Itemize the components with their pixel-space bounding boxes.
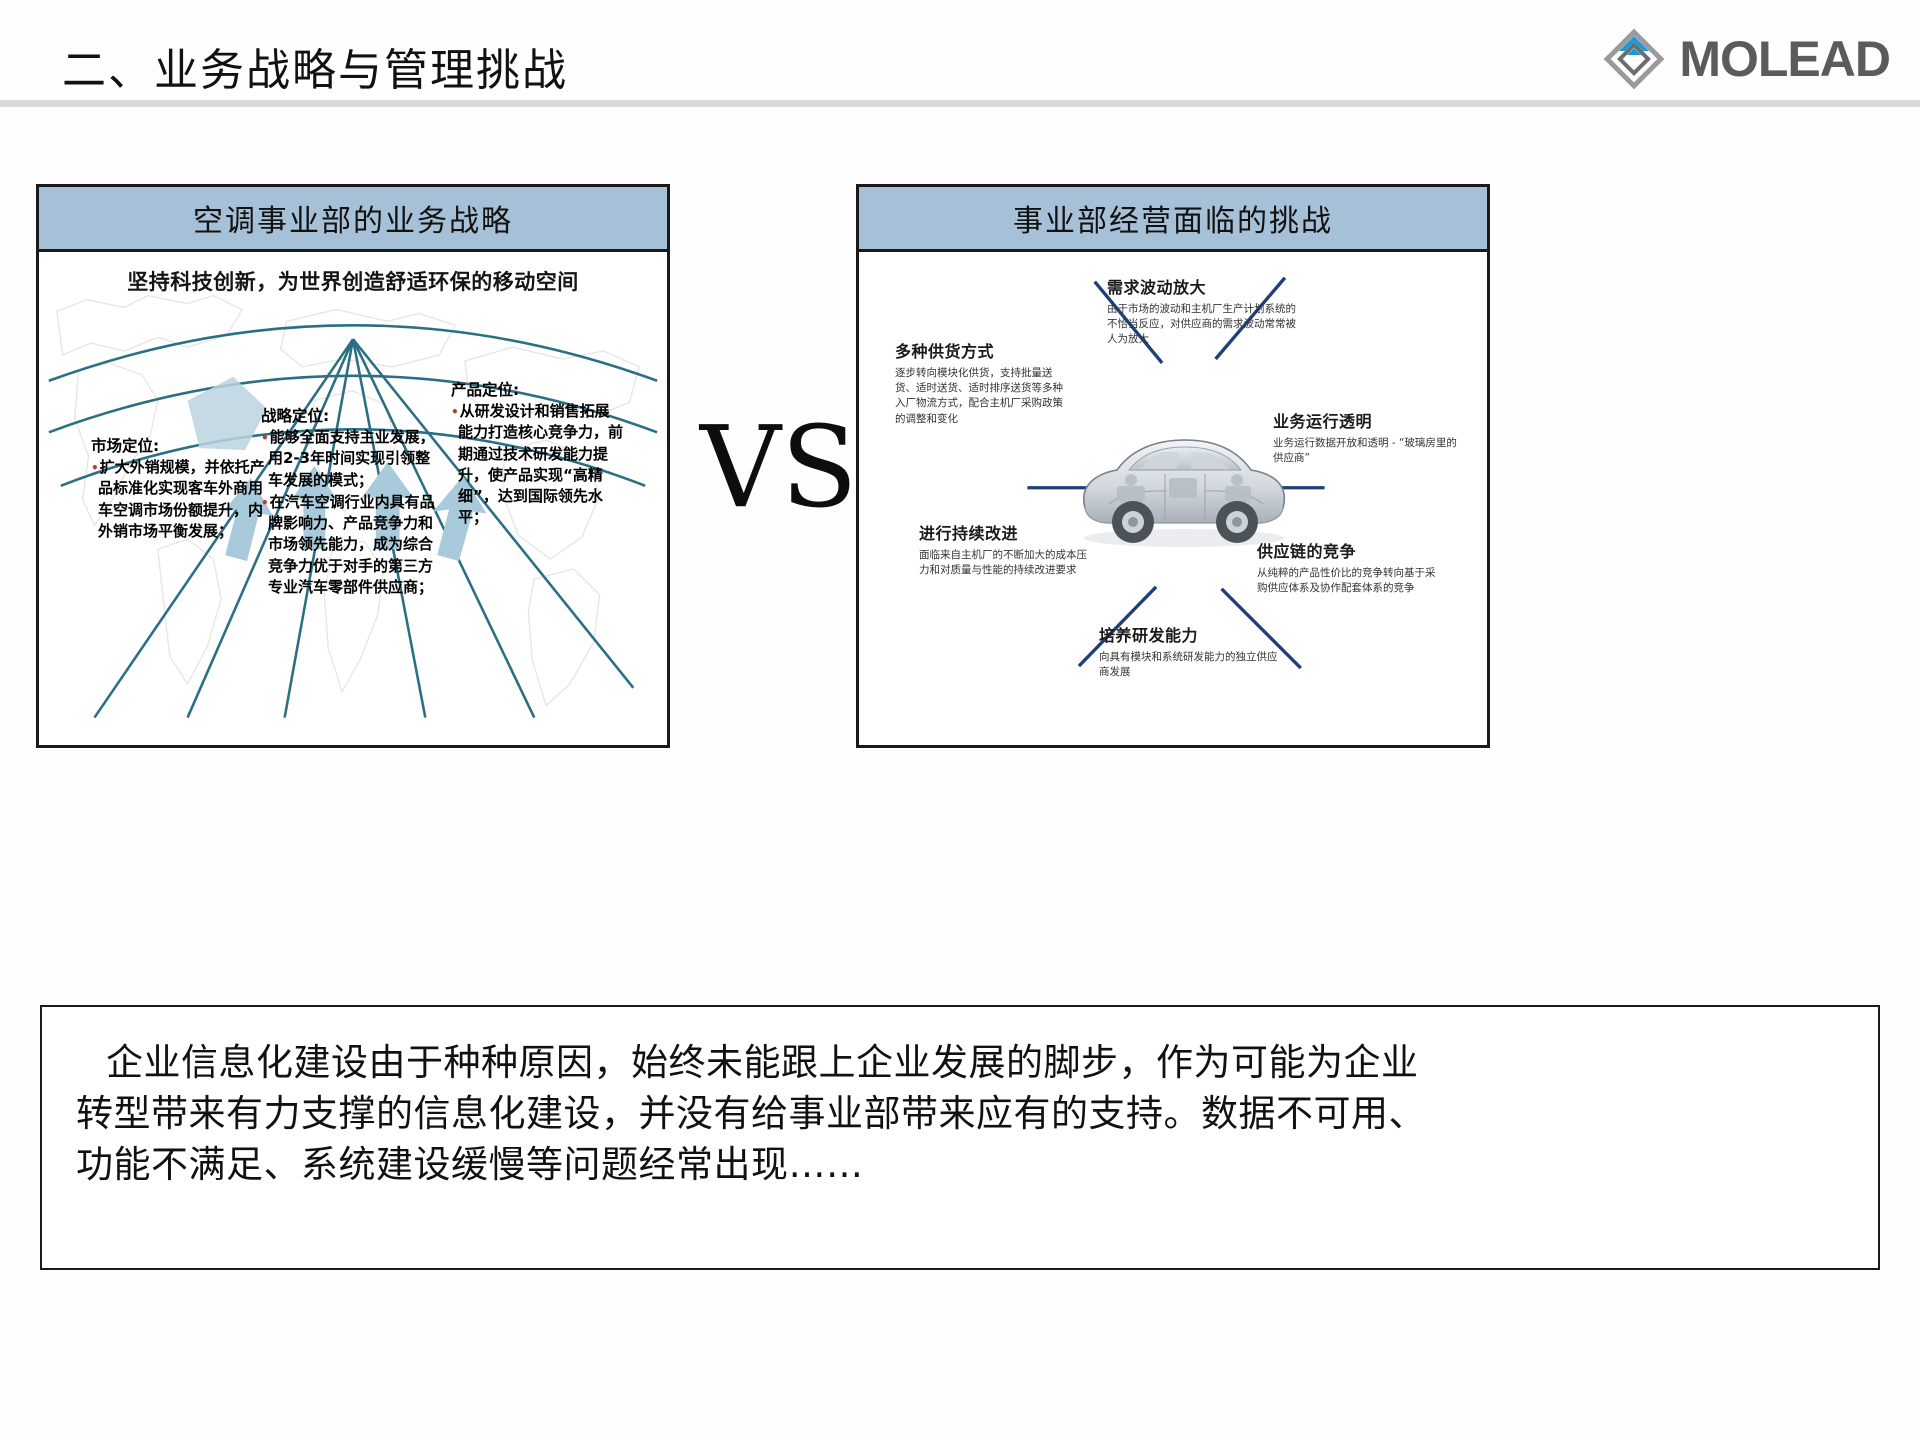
diamond-logo-icon: [1603, 28, 1665, 90]
challenge-item-supply-chain-competition: 供应链的竞争 从纯粹的产品性价比的竞争转向基于采购供应体系及协作配套体系的竞争: [1257, 538, 1437, 596]
column-title: 战略定位:: [261, 404, 443, 426]
challenge-item-demand-fluctuation: 需求波动放大 由于市场的波动和主机厂生产计划系统的不恰当反应，对供应商的需求波动…: [1107, 274, 1297, 348]
challenge-desc: 业务运行数据开放和透明 - “玻璃房里的供应商”: [1273, 436, 1459, 466]
note-line-3: 功能不满足、系统建设缓慢等问题经常出现……: [76, 1139, 1844, 1190]
brand-logo: MOLEAD: [1603, 28, 1890, 90]
right-panel-heading: 事业部经营面临的挑战: [859, 187, 1487, 252]
header-divider: [0, 100, 1920, 107]
challenge-item-continuous-improvement: 进行持续改进 面临来自主机厂的不断加大的成本压力和对质量与性能的持续改进要求: [919, 520, 1091, 578]
challenge-item-rd-capability: 培养研发能力 向具有模块和系统研发能力的独立供应商发展: [1099, 622, 1285, 680]
bullet-item: 扩大外销规模，并依托产品标准化实现客车外商用车空调市场份额提升，内外销市场平衡发…: [91, 457, 267, 542]
page-title: 二、业务战略与管理挑战: [62, 34, 568, 98]
challenge-desc: 逐步转向模块化供货，支持批量送货、适时送货、适时排序送货等多种入厂物流方式，配合…: [895, 366, 1073, 427]
bullet-item: 从研发设计和销售拓展能力打造核心竞争力，前期通过技术研发能力提升，使产品实现“高…: [451, 401, 623, 529]
challenge-desc: 向具有模块和系统研发能力的独立供应商发展: [1099, 650, 1285, 680]
column-title: 产品定位:: [451, 378, 623, 400]
challenge-title: 需求波动放大: [1107, 274, 1297, 298]
challenge-desc: 从纯粹的产品性价比的竞争转向基于采购供应体系及协作配套体系的竞争: [1257, 566, 1437, 596]
challenge-desc: 面临来自主机厂的不断加大的成本压力和对质量与性能的持续改进要求: [919, 548, 1091, 578]
bullet-item: 在汽车空调行业内具有品牌影响力、产品竞争力和市场领先能力，成为综合竞争力优于对手…: [261, 492, 443, 598]
challenge-title: 进行持续改进: [919, 520, 1091, 544]
strategy-column-market: 市场定位: 扩大外销规模，并依托产品标准化实现客车外商用车空调市场份额提升，内外…: [91, 434, 267, 543]
challenge-desc: 由于市场的波动和主机厂生产计划系统的不恰当反应，对供应商的需求波动常常被人为放大: [1107, 302, 1297, 348]
column-title: 市场定位:: [91, 434, 267, 456]
challenge-title: 业务运行透明: [1273, 408, 1459, 432]
column-bullets: 能够全面支持主业发展，用2-3年时间实现引领整车发展的模式； 在汽车空调行业内具…: [261, 427, 443, 598]
challenge-title: 供应链的竞争: [1257, 538, 1437, 562]
challenge-item-supply-modes: 多种供货方式 逐步转向模块化供货，支持批量送货、适时送货、适时排序送货等多种入厂…: [895, 338, 1073, 427]
note-line-2: 转型带来有力支撑的信息化建设，并没有给事业部带来应有的支持。数据不可用、: [76, 1088, 1844, 1139]
left-panel: 空调事业部的业务战略 坚持科技创新，为世界创造舒适环保的移动空间: [36, 184, 670, 748]
slide: 二、业务战略与管理挑战 MOLEAD 空调事业部的业务战略: [0, 0, 1920, 1440]
challenge-title: 多种供货方式: [895, 338, 1073, 362]
note-line-1: 企业信息化建设由于种种原因，始终未能跟上企业发展的脚步，作为可能为企业: [76, 1037, 1844, 1088]
column-bullets: 从研发设计和销售拓展能力打造核心竞争力，前期通过技术研发能力提升，使产品实现“高…: [451, 401, 623, 529]
strategy-column-strategy: 战略定位: 能够全面支持主业发展，用2-3年时间实现引领整车发展的模式； 在汽车…: [261, 404, 443, 599]
challenge-title: 培养研发能力: [1099, 622, 1285, 646]
bullet-item: 能够全面支持主业发展，用2-3年时间实现引领整车发展的模式；: [261, 427, 443, 491]
column-bullets: 扩大外销规模，并依托产品标准化实现客车外商用车空调市场份额提升，内外销市场平衡发…: [91, 457, 267, 542]
summary-note-box: 企业信息化建设由于种种原因，始终未能跟上企业发展的脚步，作为可能为企业 转型带来…: [40, 1005, 1880, 1270]
left-panel-heading: 空调事业部的业务战略: [39, 187, 667, 252]
right-panel: 事业部经营面临的挑战: [856, 184, 1490, 748]
logo-wordmark: MOLEAD: [1679, 30, 1890, 88]
strategy-column-product: 产品定位: 从研发设计和销售拓展能力打造核心竞争力，前期通过技术研发能力提升，使…: [451, 378, 623, 530]
right-panel-body: 需求波动放大 由于市场的波动和主机厂生产计划系统的不恰当反应，对供应商的需求波动…: [859, 252, 1487, 745]
challenge-item-transparency: 业务运行透明 业务运行数据开放和透明 - “玻璃房里的供应商”: [1273, 408, 1459, 466]
left-panel-body: 坚持科技创新，为世界创造舒适环保的移动空间: [39, 252, 667, 745]
vs-label: VS: [700, 412, 826, 524]
